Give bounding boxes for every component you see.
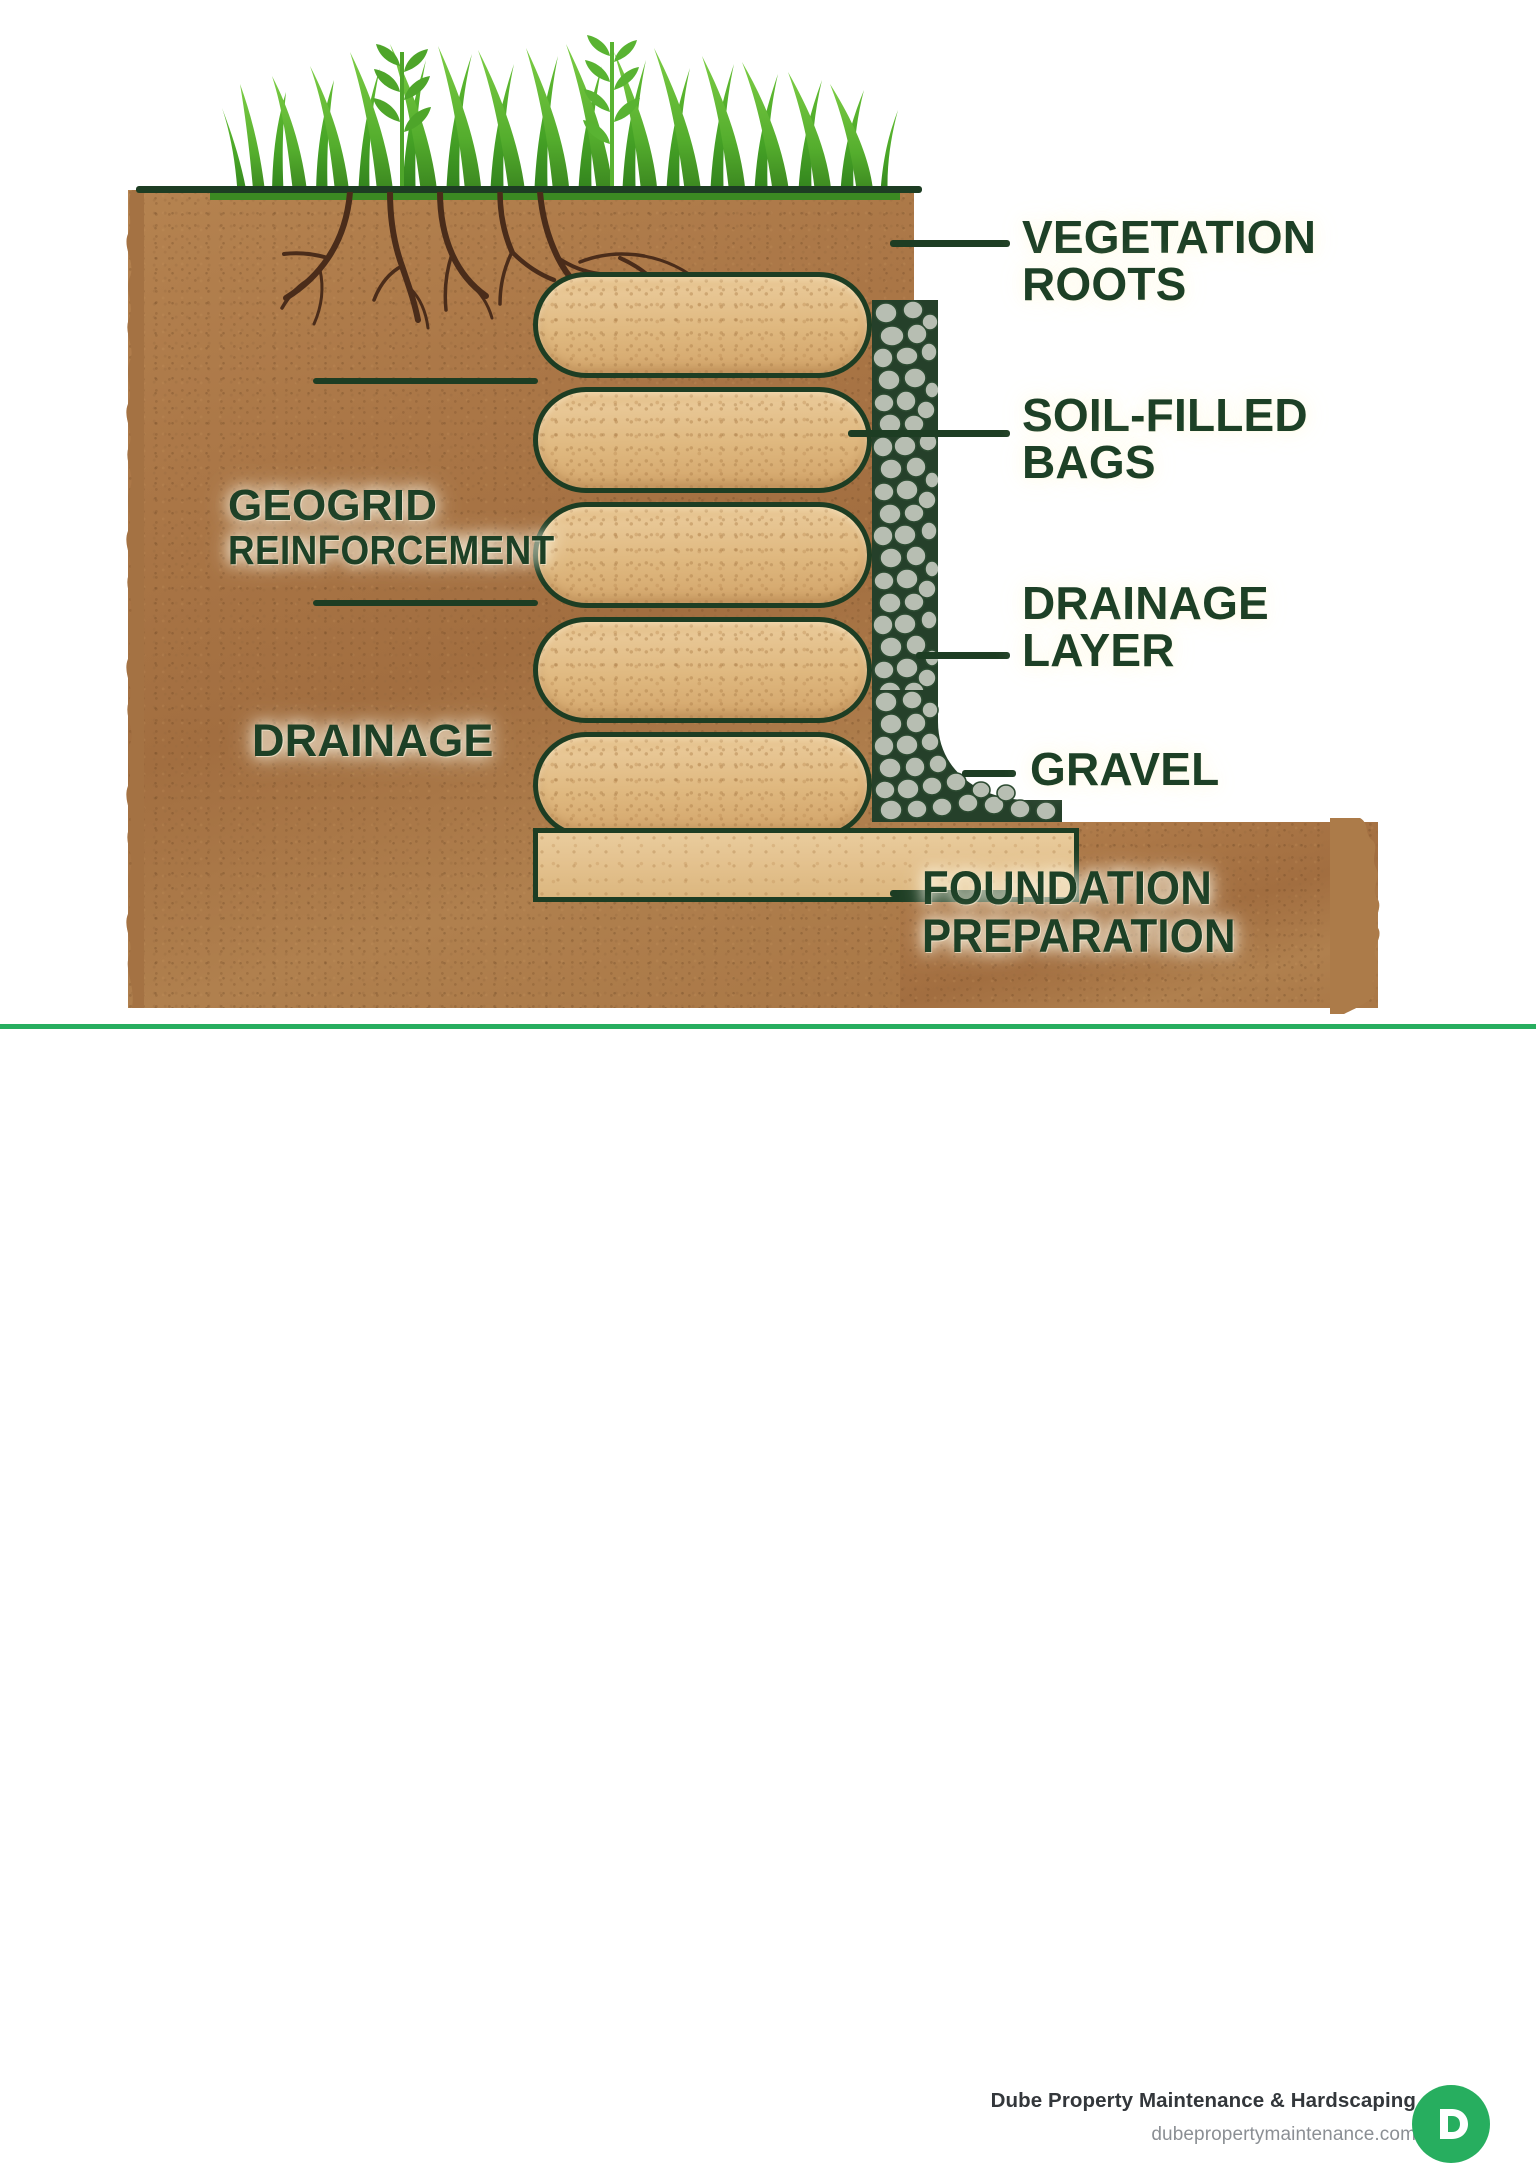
label-soil-filled-bags: SOIL-FILLED BAGS <box>1022 392 1308 487</box>
leader-line-vegetation-roots <box>890 240 1010 247</box>
label-geogrid-reinforcement: GEOGRID REINFORCEMENT <box>228 438 591 616</box>
label-gravel: GRAVEL <box>1030 746 1219 793</box>
leader-line-drainage-layer <box>916 652 1010 659</box>
label-foundation-preparation: FOUNDATION PREPARATION <box>922 864 1236 961</box>
soil-filled-bag <box>533 617 872 723</box>
brand-logo-icon <box>1412 2085 1490 2163</box>
soil-left-torn-edge <box>118 190 144 1008</box>
label-drainage-layer: DRAINAGE LAYER <box>1022 580 1269 675</box>
company-name: Dube Property Maintenance & Hardscaping <box>991 2089 1416 2113</box>
label-geogrid-line2: REINFORCEMENT <box>228 529 555 571</box>
soil-right-torn-edge <box>1330 818 1394 1014</box>
label-geogrid-line1: GEOGRID <box>228 481 437 530</box>
leader-line-gravel <box>962 770 1016 777</box>
website-url[interactable]: dubepropertymaintenance.com <box>1151 2124 1416 2146</box>
infographic-page: VEGETATION ROOTS SOIL-FILLED BAGS DRAINA… <box>0 0 1536 1154</box>
leader-line-soil-filled-bags <box>848 430 1010 437</box>
soil-filled-bag <box>533 272 872 378</box>
label-vegetation-roots: VEGETATION ROOTS <box>1022 214 1316 309</box>
soil-filled-bag <box>533 732 872 838</box>
footer: Dube Property Maintenance & Hardscaping … <box>0 1029 1536 1154</box>
diagram-stage: VEGETATION ROOTS SOIL-FILLED BAGS DRAINA… <box>0 0 1536 1014</box>
vegetation-grass <box>210 22 900 200</box>
label-drainage: DRAINAGE <box>252 718 494 764</box>
geogrid-line-upper <box>313 378 538 384</box>
